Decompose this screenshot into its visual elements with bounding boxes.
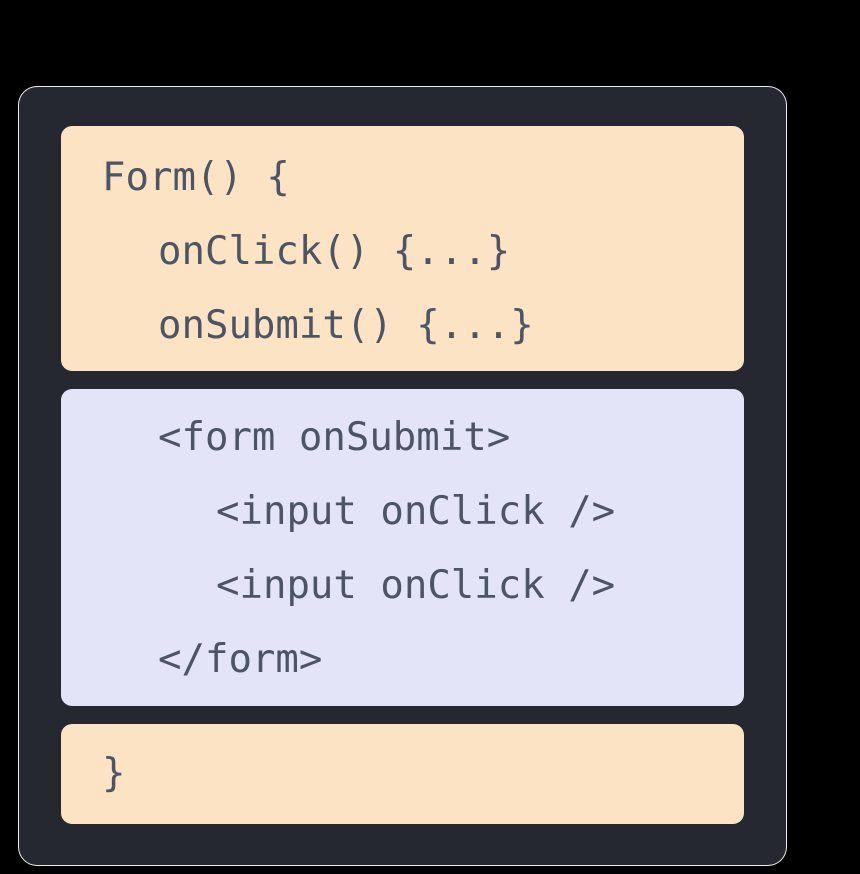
code-line: <input onClick />	[61, 549, 744, 623]
code-lines-component-header: Form() { onClick() {...} onSubmit() {...…	[61, 135, 744, 363]
code-lines-component-footer: }	[61, 737, 744, 811]
code-line: onSubmit() {...}	[61, 289, 744, 363]
code-line: }	[61, 737, 744, 811]
code-line: onClick() {...}	[61, 215, 744, 289]
code-line: </form>	[61, 623, 744, 697]
code-line: <form onSubmit>	[61, 401, 744, 475]
code-line: Form() {	[61, 141, 744, 215]
code-card: Form() { onClick() {...} onSubmit() {...…	[18, 86, 787, 866]
code-line: <input onClick />	[61, 475, 744, 549]
code-lines-markup-body: <form onSubmit> <input onClick /> <input…	[61, 399, 744, 697]
code-block-markup-body: <form onSubmit> <input onClick /> <input…	[61, 389, 744, 706]
code-block-component-header: Form() { onClick() {...} onSubmit() {...…	[61, 126, 744, 371]
canvas-background: Form() { onClick() {...} onSubmit() {...…	[0, 0, 860, 874]
code-block-component-footer: }	[61, 724, 744, 824]
